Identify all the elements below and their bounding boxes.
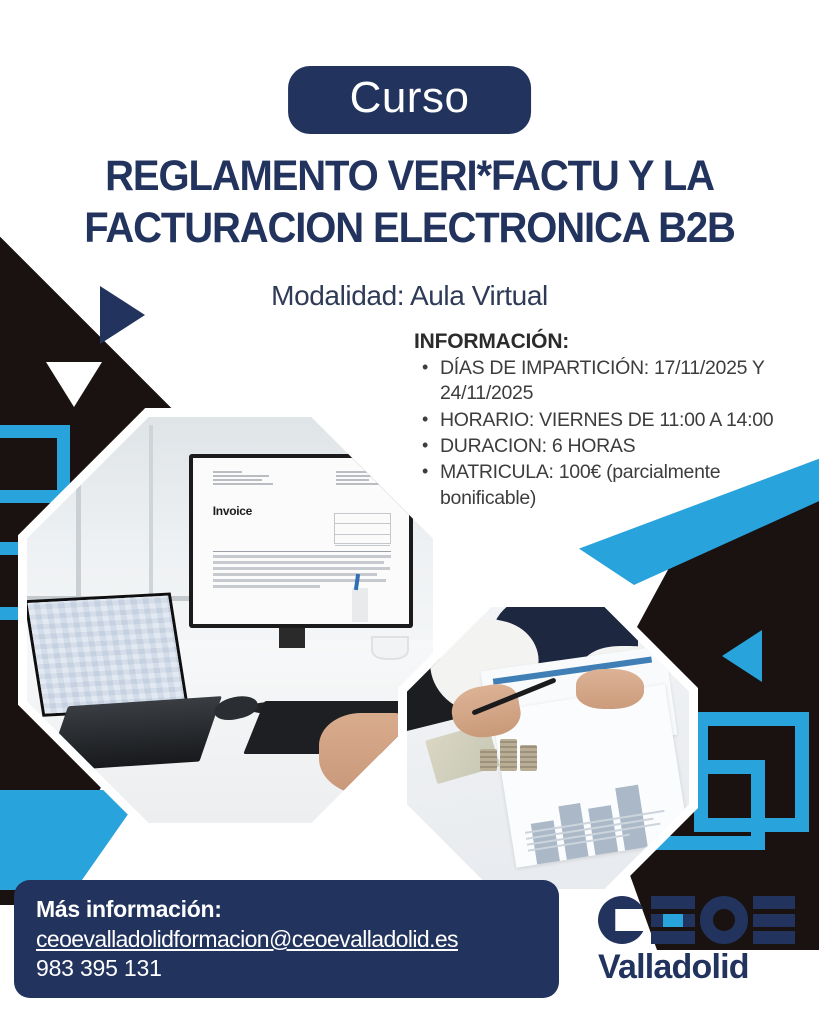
page-title: REGLAMENTO VERI*FACTU Y LA FACTURACION E… bbox=[0, 150, 819, 255]
list-item: DÍAS DE IMPARTICIÓN: 17/11/2025 Y 24/11/… bbox=[440, 356, 774, 407]
logo-letter-e-second bbox=[753, 896, 795, 944]
title-line-1: REGLAMENTO VERI*FACTU Y LA bbox=[29, 150, 791, 202]
coin-stack bbox=[480, 749, 497, 771]
invoice-screen-title: Invoice bbox=[213, 504, 252, 518]
spreadsheet-content bbox=[28, 595, 186, 713]
main-photo: Invoice bbox=[27, 417, 433, 823]
contact-footer: Más información: ceoevalladolidformacion… bbox=[14, 880, 559, 998]
logo-letter-c bbox=[598, 896, 646, 944]
secondary-photo bbox=[407, 607, 689, 889]
contact-heading: Más información: bbox=[36, 896, 559, 923]
coffee-cup bbox=[371, 636, 409, 660]
coin-stack bbox=[520, 745, 537, 771]
monitor: Invoice bbox=[189, 454, 412, 629]
contact-email-link[interactable]: ceoevalladolidformacion@ceoevalladolid.e… bbox=[36, 926, 458, 953]
information-section: INFORMACIÓN: DÍAS DE IMPARTICIÓN: 17/11/… bbox=[414, 330, 774, 512]
blue-triangle-icon bbox=[722, 630, 762, 682]
invoice-recipient-lines bbox=[336, 471, 392, 487]
invoice-sender-lines bbox=[213, 471, 291, 487]
information-list: DÍAS DE IMPARTICIÓN: 17/11/2025 Y 24/11/… bbox=[414, 356, 774, 511]
modality-text: Modalidad: Aula Virtual bbox=[0, 280, 819, 312]
course-poster: Curso REGLAMENTO VERI*FACTU Y LA FACTURA… bbox=[0, 0, 819, 1024]
list-item: MATRICULA: 100€ (parcialmente bonificabl… bbox=[440, 460, 774, 511]
logo-letter-e-first bbox=[651, 896, 695, 944]
laptop-screen bbox=[27, 592, 189, 717]
course-badge: Curso bbox=[288, 66, 532, 134]
title-line-2: FACTURACION ELECTRONICA B2B bbox=[29, 202, 791, 254]
logo-subtitle: Valladolid bbox=[598, 950, 798, 984]
pen-holder bbox=[352, 588, 368, 622]
list-item: DURACION: 6 HORAS bbox=[440, 434, 774, 459]
information-heading: INFORMACIÓN: bbox=[414, 330, 774, 354]
secondary-photo-frame bbox=[398, 598, 698, 898]
coin-stack bbox=[500, 739, 517, 771]
ceoe-valladolid-logo: Valladolid bbox=[598, 896, 798, 984]
ceoe-wordmark bbox=[598, 896, 798, 944]
invoice-meta-box bbox=[334, 513, 392, 545]
coin-stacks bbox=[480, 737, 538, 771]
logo-letter-o bbox=[700, 896, 748, 944]
list-item: HORARIO: VIERNES DE 11:00 A 14:00 bbox=[440, 408, 774, 433]
hand-resting bbox=[576, 669, 644, 708]
contact-phone: 983 395 131 bbox=[36, 955, 559, 982]
monitor-stand-neck bbox=[279, 628, 305, 648]
white-triangle-icon bbox=[46, 362, 102, 407]
financial-report-main bbox=[492, 685, 689, 868]
monitor-screen: Invoice bbox=[193, 458, 408, 625]
